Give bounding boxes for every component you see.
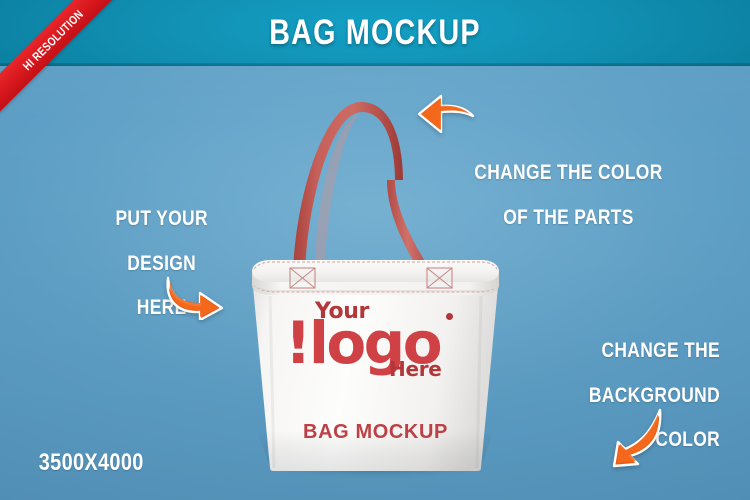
ribbon-banner: HI RESOLUTION bbox=[0, 0, 137, 123]
ribbon-label: HI RESOLUTION bbox=[20, 6, 86, 72]
arrow-down-left-icon bbox=[608, 404, 666, 470]
annotation-line: CHANGE THE bbox=[589, 340, 720, 362]
corner-ribbon: HI RESOLUTION bbox=[0, 0, 150, 150]
mockup-preview-canvas: BAG MOCKUP HI RESOLUTION CHANGE THE COLO… bbox=[0, 0, 750, 500]
arrow-down-right-icon bbox=[160, 272, 230, 320]
annotation-line: PUT YOUR bbox=[115, 208, 207, 230]
page-title: BAG MOCKUP bbox=[68, 0, 683, 66]
bag-mockup-object[interactable]: Your !logo Here BAG MOCKUP bbox=[243, 80, 508, 472]
bag-body[interactable] bbox=[243, 80, 508, 472]
annotation-line: 3500X4000 bbox=[39, 450, 144, 475]
annotation-dimensions: 3500X4000 PIXELS bbox=[28, 425, 154, 500]
